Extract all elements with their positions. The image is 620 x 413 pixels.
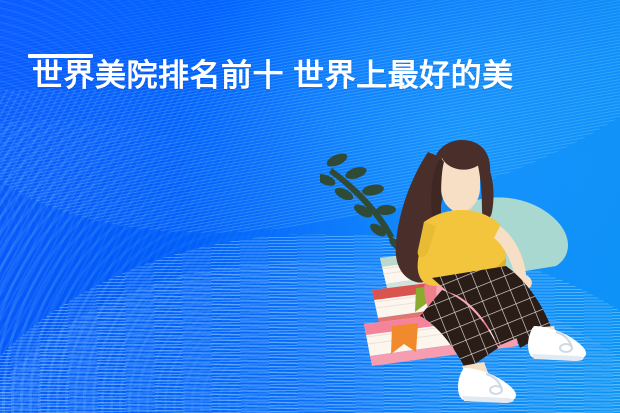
page-title: 世界美院排名前十 世界上最好的美 [32, 56, 562, 96]
promo-banner: 世界美院排名前十 世界上最好的美 [0, 0, 620, 413]
fern-plant-icon [320, 151, 405, 253]
sneaker-right [528, 326, 586, 361]
sneaker-left [458, 368, 516, 403]
illustration-svg [320, 140, 620, 413]
illustration-girl-reading [320, 140, 620, 413]
